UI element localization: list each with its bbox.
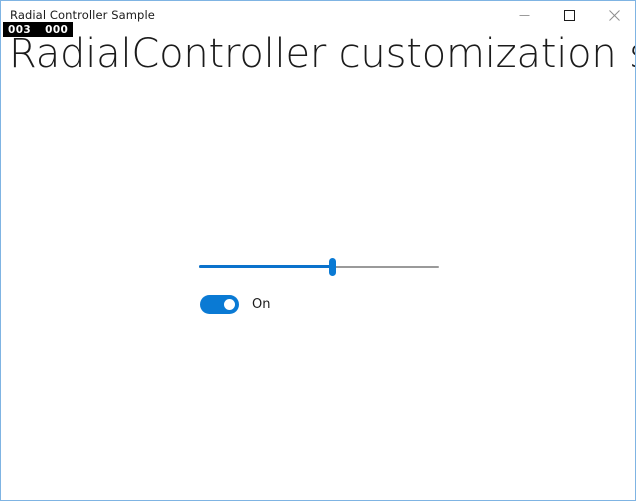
perf-cpu-value: 000 bbox=[45, 24, 68, 36]
close-icon bbox=[609, 10, 620, 21]
perf-fps-value: 003 bbox=[8, 24, 31, 36]
page-title: RadialController customization sample bbox=[9, 30, 636, 78]
minimize-icon bbox=[519, 10, 530, 21]
window-title: Radial Controller Sample bbox=[1, 8, 155, 22]
radial-slider[interactable] bbox=[199, 258, 439, 276]
slider-thumb[interactable] bbox=[329, 258, 336, 276]
maximize-icon bbox=[564, 10, 575, 21]
radial-toggle-switch[interactable] bbox=[200, 295, 239, 314]
slider-fill bbox=[199, 265, 333, 268]
maximize-button[interactable] bbox=[547, 1, 592, 30]
performance-counter-overlay: 003 000 bbox=[3, 22, 73, 37]
close-button[interactable] bbox=[592, 1, 636, 30]
title-bar[interactable]: Radial Controller Sample bbox=[1, 0, 636, 29]
radial-toggle-row[interactable]: On bbox=[200, 295, 270, 314]
minimize-button[interactable] bbox=[502, 1, 547, 30]
window-controls bbox=[502, 1, 636, 30]
app-window: Radial Controller Sample RadialCo bbox=[0, 0, 636, 501]
toggle-label: On bbox=[252, 297, 270, 312]
toggle-knob-icon bbox=[224, 299, 235, 310]
